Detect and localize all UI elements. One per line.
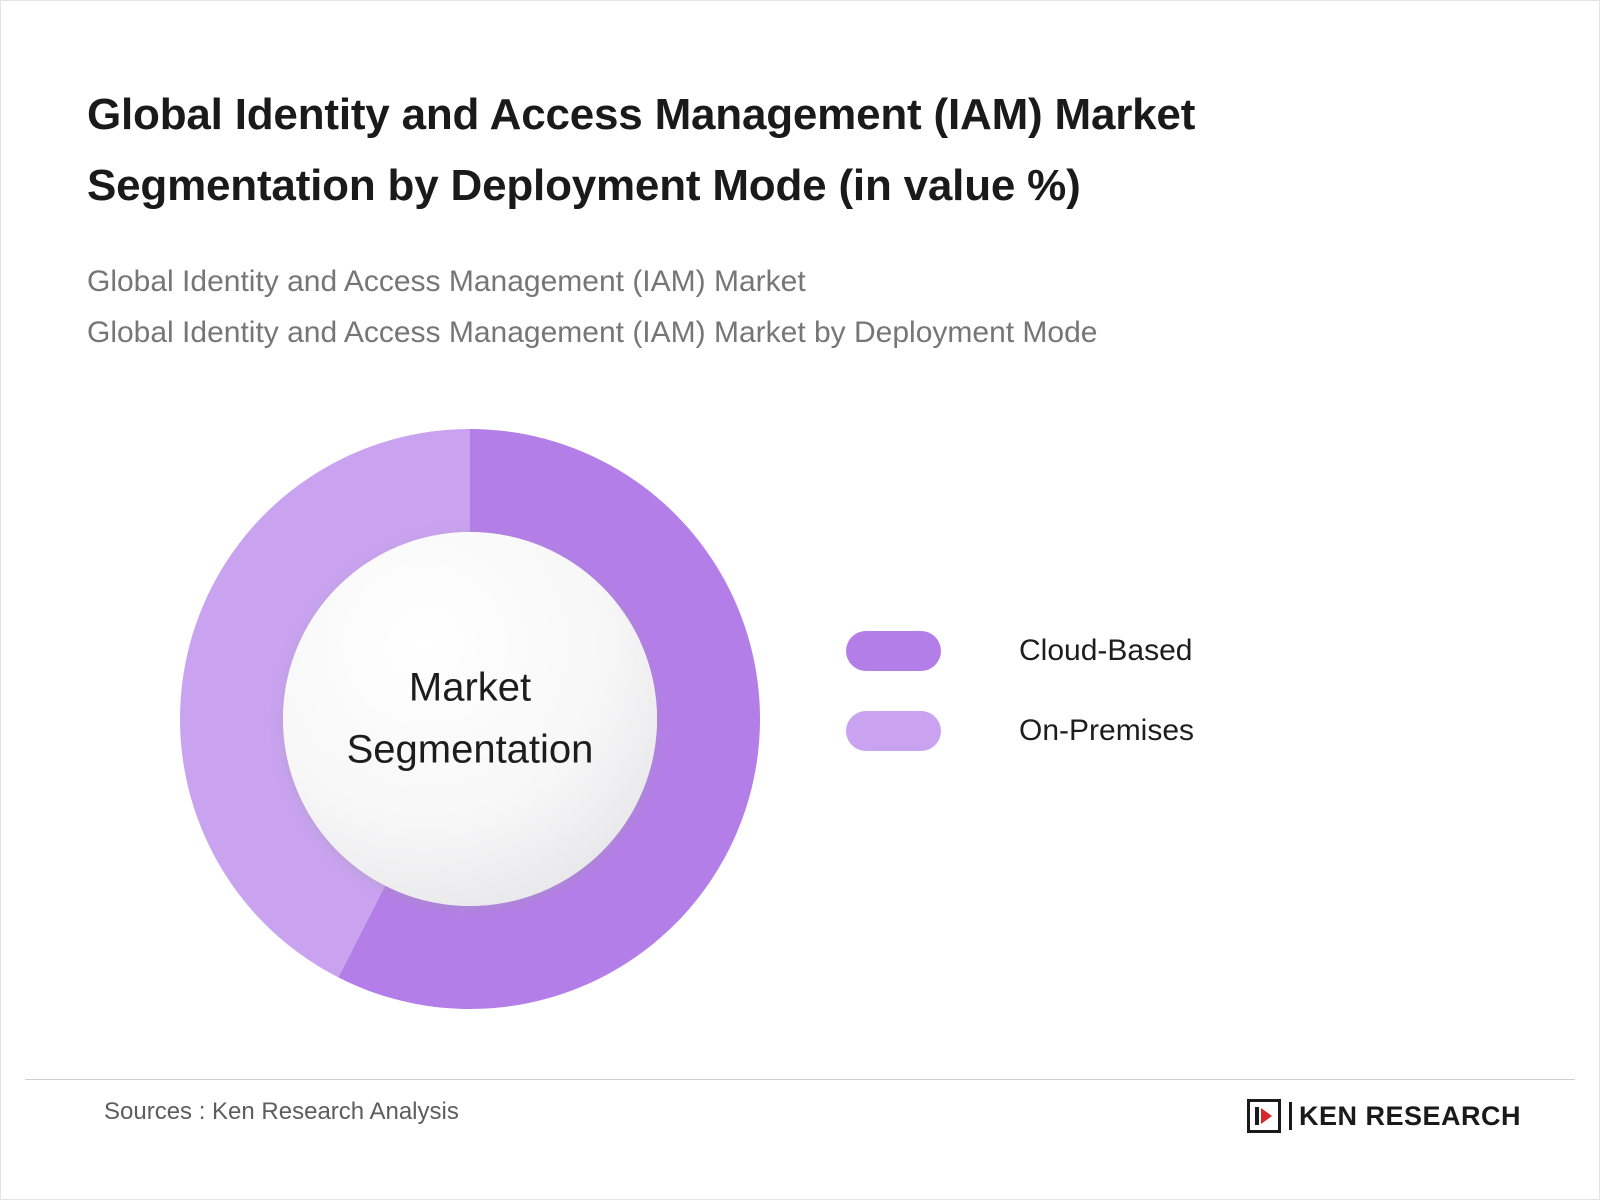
- legend-label-cloud-based: Cloud-Based: [1019, 634, 1192, 668]
- chart-legend: Cloud-Based On-Premises: [846, 611, 1276, 771]
- footer-divider: [25, 1079, 1575, 1080]
- brand-logo: KEN RESEARCH: [1247, 1096, 1521, 1136]
- header: Global Identity and Access Management (I…: [87, 79, 1507, 359]
- chart-area: Market Segmentation Cloud-Based On-Premi…: [1, 401, 1600, 1041]
- brand-name: KEN RESEARCH: [1299, 1101, 1521, 1132]
- legend-swatch-on-premises: [846, 711, 941, 751]
- donut-center-disc: [283, 532, 657, 906]
- legend-swatch-cloud-based: [846, 631, 941, 671]
- ken-research-k-icon: [1247, 1099, 1281, 1133]
- donut-chart: Market Segmentation: [180, 429, 760, 1009]
- footer-source-text: Sources : Ken Research Analysis: [104, 1098, 459, 1126]
- slide-canvas: Global Identity and Access Management (I…: [0, 0, 1600, 1200]
- brand-divider-icon: [1289, 1102, 1292, 1130]
- subtitle-line-1: Global Identity and Access Management (I…: [87, 256, 1507, 308]
- legend-item-cloud-based[interactable]: Cloud-Based: [846, 611, 1276, 691]
- donut-svg: [180, 429, 760, 1009]
- legend-item-on-premises[interactable]: On-Premises: [846, 691, 1276, 771]
- page-title: Global Identity and Access Management (I…: [87, 79, 1397, 222]
- subtitle-line-2: Global Identity and Access Management (I…: [87, 307, 1507, 359]
- subtitle-block: Global Identity and Access Management (I…: [87, 256, 1507, 359]
- legend-label-on-premises: On-Premises: [1019, 714, 1194, 748]
